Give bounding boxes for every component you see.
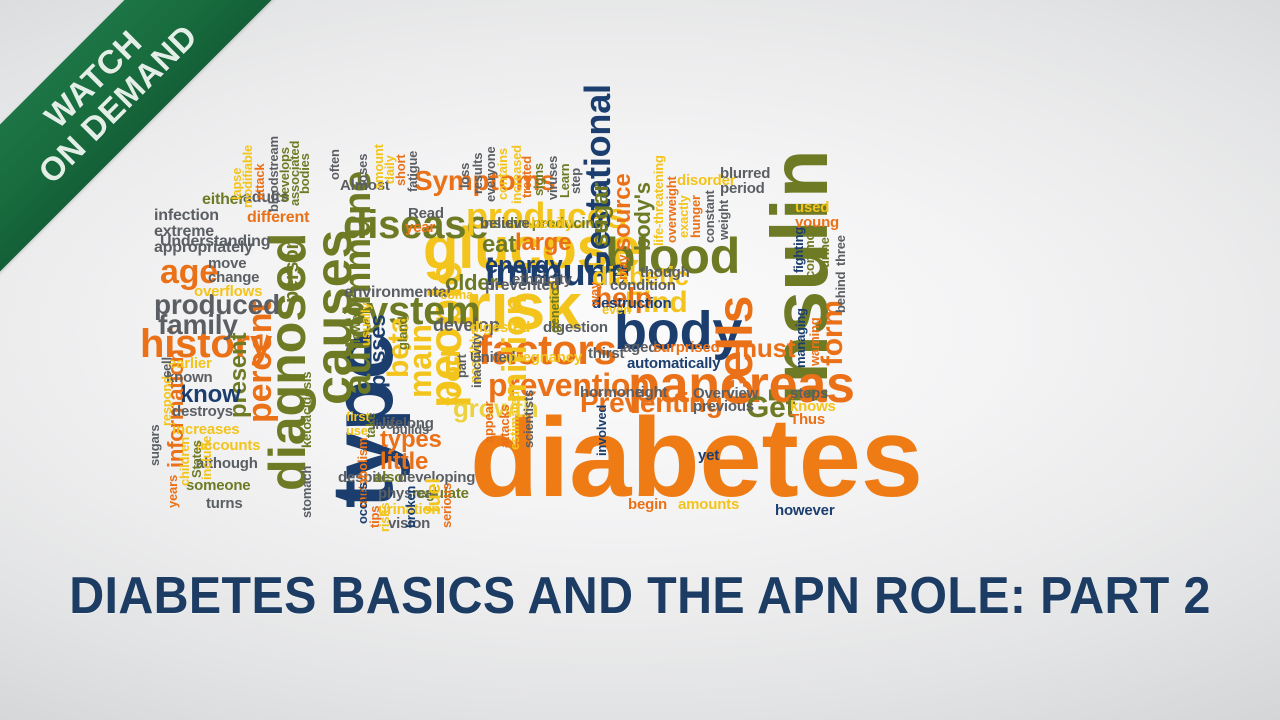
cloud-word: respond	[160, 376, 173, 426]
cloud-word: used	[795, 200, 829, 215]
cloud-word: coma	[440, 288, 473, 301]
cloud-word: viruses	[546, 156, 559, 200]
cloud-word: estimated	[508, 391, 521, 450]
page-title: DIABETES BASICS AND THE APN ROLE: PART 2	[45, 566, 1235, 626]
cloud-word: everyone	[484, 147, 497, 203]
cloud-word: three	[834, 235, 847, 266]
cloud-word: amount	[372, 144, 385, 190]
cloud-word: previous	[693, 399, 754, 414]
cloud-word: amounts	[678, 497, 739, 512]
cloud-word: weight	[717, 200, 730, 240]
cloud-word: different	[247, 210, 309, 226]
cloud-word: hormone	[580, 385, 643, 400]
slide-canvas: WATCH ON DEMAND diabetestypeinsulinriskg…	[0, 0, 1280, 720]
cloud-word: involved	[595, 405, 608, 456]
cloud-word: first	[346, 410, 370, 423]
cloud-word: year	[405, 220, 435, 235]
cloud-word: live	[372, 418, 393, 431]
cloud-word: right	[635, 385, 667, 400]
cloud-word: extreme	[154, 224, 214, 240]
cloud-word: may	[616, 255, 629, 280]
cloud-word: scientists	[522, 390, 535, 448]
cloud-word: person	[282, 238, 302, 303]
cloud-word: period	[720, 181, 765, 196]
cloud-word: sugars	[148, 425, 161, 466]
cloud-word: though	[640, 265, 690, 280]
cloud-word: however	[775, 503, 834, 518]
cloud-word: believe	[480, 216, 529, 231]
cloud-word: ketoacidosis	[300, 372, 313, 448]
cloud-word: ethnicity	[512, 272, 572, 287]
cloud-word: lapse	[230, 168, 243, 200]
cloud-word: loses	[356, 154, 369, 186]
cloud-word: managing	[794, 308, 807, 368]
cloud-word: urine	[818, 237, 831, 268]
cloud-word: appear	[482, 402, 495, 443]
cloud-word: hunger	[689, 195, 702, 238]
cloud-word: genetic	[548, 289, 561, 333]
cloud-word: someone	[186, 478, 250, 493]
cloud-word: gland	[396, 316, 409, 350]
cloud-word: bloodstream	[267, 136, 280, 212]
cloud-word: begin	[628, 497, 667, 512]
cloud-word: environmental	[344, 285, 451, 301]
cloud-word: stomach	[300, 466, 313, 518]
cloud-word: usually	[359, 303, 372, 346]
cloud-word: common	[803, 225, 816, 278]
cloud-word: even	[602, 303, 631, 316]
cloud-word: risks	[378, 503, 391, 532]
cloud-word: years	[166, 475, 179, 508]
cloud-word: pregnancy	[508, 350, 582, 365]
cloud-word: overflows	[194, 284, 262, 299]
cloud-word: Thus	[790, 412, 825, 427]
cloud-word: infection	[154, 208, 219, 224]
cloud-word: must	[734, 335, 795, 361]
cloud-word: serious	[440, 483, 453, 528]
cloud-word: destroys	[172, 404, 233, 419]
diabetes-word-cloud: diabetestypeinsulinriskglucosebodydiagno…	[140, 88, 1030, 528]
cloud-word: automatically	[627, 356, 720, 371]
cloud-word: yet	[698, 448, 719, 463]
cloud-word: behind	[834, 272, 847, 313]
cloud-word: often	[328, 149, 341, 180]
cloud-word: appropriately	[154, 240, 253, 256]
cloud-word: broken	[404, 486, 417, 528]
cloud-word: earlier	[168, 356, 212, 371]
cloud-word: surprised	[653, 340, 720, 355]
cloud-word: inactivity	[470, 334, 483, 388]
cloud-word: way	[588, 282, 601, 306]
cloud-word: cell	[160, 357, 173, 378]
cloud-word: builds	[392, 423, 429, 436]
cloud-word: obesity	[522, 216, 573, 231]
cloud-word: thirst	[588, 346, 624, 361]
cloud-word: warning	[808, 318, 821, 366]
cloud-word: include	[200, 436, 213, 480]
cloud-word: turns	[206, 496, 243, 511]
cloud-word: blurred	[720, 166, 770, 181]
cloud-word: increased	[510, 145, 523, 204]
cloud-word: increases	[172, 422, 239, 437]
cloud-word: results	[471, 153, 484, 194]
cloud-word: constant	[703, 190, 716, 243]
cloud-word: use	[346, 424, 368, 437]
cloud-word: loss	[458, 163, 471, 188]
